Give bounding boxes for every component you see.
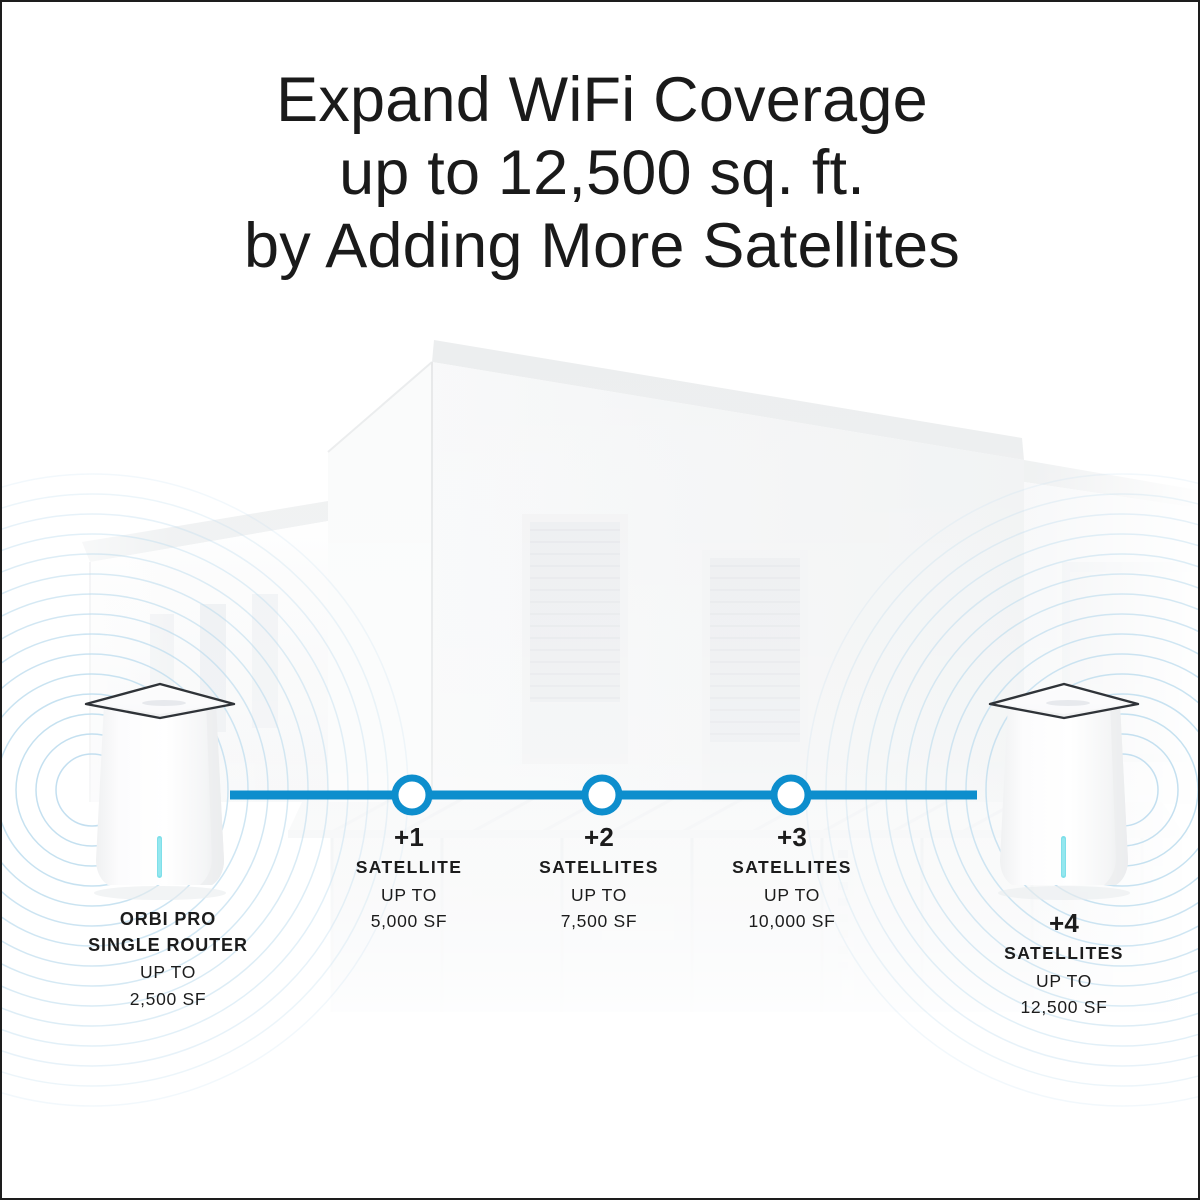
- title-line-2: up to 12,500 sq. ft.: [2, 137, 1200, 210]
- timeline-node-2: [585, 778, 619, 812]
- caption-satellite-1: +1 SATELLITE UP TO 5,000 SF: [320, 824, 498, 931]
- title-line-3: by Adding More Satellites: [2, 210, 1200, 283]
- satellite-1-coverage-value: 5,000 SF: [320, 913, 498, 931]
- satellite-3-coverage-value: 10,000 SF: [700, 913, 884, 931]
- timeline-node-1: [395, 778, 429, 812]
- satellite-4-amount: +4: [940, 910, 1188, 936]
- caption-router: ORBI PRO SINGLE ROUTER UP TO 2,500 SF: [30, 910, 306, 1008]
- router-coverage-value: 2,500 SF: [30, 991, 306, 1009]
- product-infographic: Expand WiFi Coverage up to 12,500 sq. ft…: [0, 0, 1200, 1200]
- satellite-3-unit: SATELLITES: [700, 859, 884, 877]
- caption-satellite-2: +2 SATELLITES UP TO 7,500 SF: [510, 824, 688, 931]
- satellite-1-unit: SATELLITE: [320, 859, 498, 877]
- page-title: Expand WiFi Coverage up to 12,500 sq. ft…: [2, 64, 1200, 283]
- satellite-3-upto-label: UP TO: [700, 887, 884, 905]
- satellite-4-unit: SATELLITES: [940, 945, 1188, 963]
- satellite-1-amount: +1: [320, 824, 498, 850]
- satellite-2-unit: SATELLITES: [510, 859, 688, 877]
- title-line-1: Expand WiFi Coverage: [2, 64, 1200, 137]
- satellite-2-coverage-value: 7,500 SF: [510, 913, 688, 931]
- timeline-node-3: [774, 778, 808, 812]
- caption-satellite-4: +4 SATELLITES UP TO 12,500 SF: [940, 910, 1188, 1017]
- satellite-3-amount: +3: [700, 824, 884, 850]
- satellite-4-coverage-value: 12,500 SF: [940, 999, 1188, 1017]
- satellite-2-amount: +2: [510, 824, 688, 850]
- router-upto-label: UP TO: [30, 964, 306, 982]
- satellite-4-upto-label: UP TO: [940, 973, 1188, 991]
- caption-satellite-3: +3 SATELLITES UP TO 10,000 SF: [700, 824, 884, 931]
- satellite-2-upto-label: UP TO: [510, 887, 688, 905]
- satellite-1-upto-label: UP TO: [320, 887, 498, 905]
- router-name-line-2: SINGLE ROUTER: [30, 936, 306, 954]
- router-name-line-1: ORBI PRO: [30, 910, 306, 928]
